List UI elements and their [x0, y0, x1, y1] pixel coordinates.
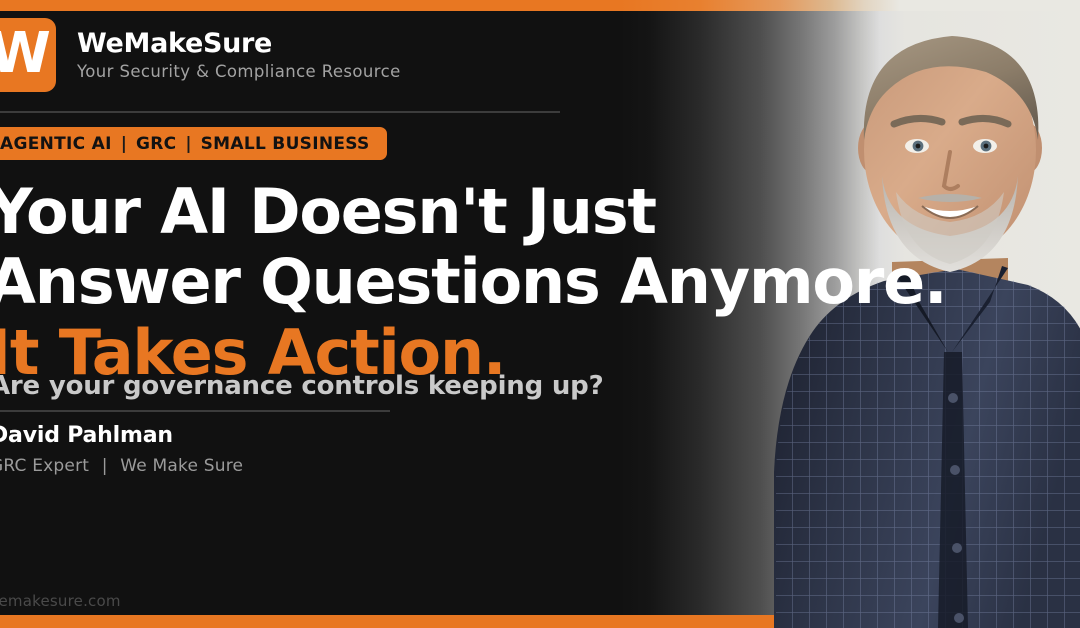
author-role-separator: |: [95, 456, 115, 476]
author-name: David Pahlman: [0, 423, 243, 448]
brand-header: W WeMakeSure Your Security & Compliance …: [0, 18, 401, 92]
top-accent-bar: [0, 0, 1080, 11]
social-card: W WeMakeSure Your Security & Compliance …: [0, 0, 1080, 628]
headline-line-2: Answer Questions Anymore.: [0, 251, 946, 313]
logo-letter: W: [0, 26, 49, 82]
category-item-grc: GRC: [136, 134, 176, 154]
footer-website-url: wemakesure.com: [0, 592, 121, 610]
author-role-line: GRC Expert | We Make Sure: [0, 456, 243, 476]
byline-divider: [0, 410, 390, 412]
brand-tagline: Your Security & Compliance Resource: [77, 63, 401, 81]
category-badge: AGENTIC AI | GRC | SMALL BUSINESS: [0, 127, 387, 160]
byline-block: David Pahlman GRC Expert | We Make Sure: [0, 423, 243, 476]
category-separator-2: |: [176, 134, 200, 154]
bottom-accent-bar: [0, 615, 1080, 628]
logo-icon: W: [0, 18, 56, 92]
brand-text-block: WeMakeSure Your Security & Compliance Re…: [77, 29, 401, 82]
category-item-small-business: SMALL BUSINESS: [201, 134, 370, 154]
header-divider: [0, 111, 560, 113]
headline-line-1: Your AI Doesn't Just: [0, 181, 946, 243]
author-role: GRC Expert: [0, 456, 89, 476]
brand-name: WeMakeSure: [77, 29, 401, 59]
headline-block: Your AI Doesn't Just Answer Questions An…: [0, 181, 946, 384]
category-separator-1: |: [112, 134, 136, 154]
author-company: We Make Sure: [120, 456, 243, 476]
subheadline: Are your governance controls keeping up?: [0, 371, 603, 401]
category-item-agentic-ai: AGENTIC AI: [0, 134, 112, 154]
